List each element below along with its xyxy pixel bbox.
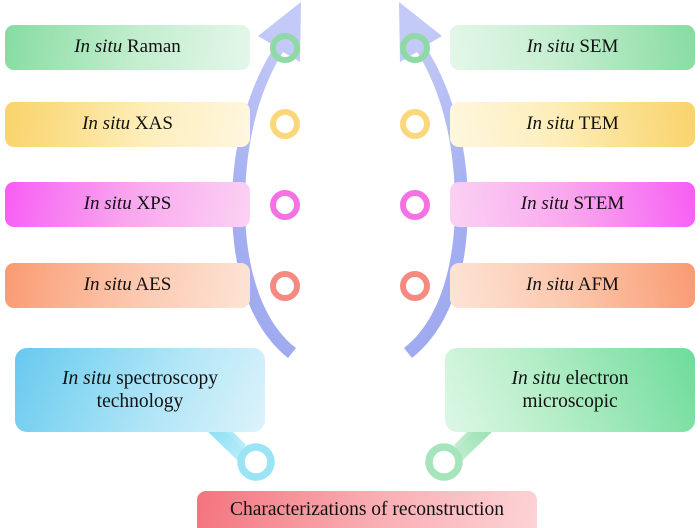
ring-sem — [400, 33, 430, 63]
ring-raman — [270, 33, 300, 63]
pill-label-sem: In situ SEM — [527, 36, 619, 58]
pill-in-situ-afm[interactable]: In situ AFM — [450, 263, 695, 308]
pill-in-situ-xps[interactable]: In situ XPS — [5, 182, 250, 227]
pill-label-tem: In situ TEM — [526, 113, 619, 135]
pill-in-situ-xas[interactable]: In situ XAS — [5, 102, 250, 147]
pill-in-situ-sem[interactable]: In situ SEM — [450, 25, 695, 70]
pill-label-xas: In situ XAS — [82, 113, 173, 135]
ring-stem — [400, 190, 430, 220]
ring-tem — [400, 109, 430, 139]
pill-label-afm: In situ AFM — [526, 274, 619, 296]
bottom-bar-characterizations[interactable]: Characterizations of reconstruction — [197, 491, 537, 528]
pill-label-stem: In situ STEM — [521, 193, 624, 215]
pill-label-raman: In situ Raman — [74, 36, 181, 58]
figure-canvas: In situ Raman In situ XAS In situ XPS In… — [0, 0, 700, 528]
pill-label-xps: In situ XPS — [84, 193, 172, 215]
pill-in-situ-electron-microscopic[interactable]: In situ electron microscopic — [445, 348, 695, 432]
pill-in-situ-raman[interactable]: In situ Raman — [5, 25, 250, 70]
bottom-bar-label: Characterizations of reconstruction — [230, 499, 504, 521]
ring-xas — [270, 109, 300, 139]
pill-label-spectroscopy: In situ spectroscopy technology — [62, 367, 218, 413]
pill-in-situ-spectroscopy-technology[interactable]: In situ spectroscopy technology — [15, 348, 265, 432]
ring-aes — [270, 271, 300, 301]
pill-in-situ-tem[interactable]: In situ TEM — [450, 102, 695, 147]
pill-label-electron-microscopic: In situ electron microscopic — [512, 367, 629, 413]
pill-in-situ-stem[interactable]: In situ STEM — [450, 182, 695, 227]
pill-label-aes: In situ AES — [84, 274, 172, 296]
ring-xps — [270, 190, 300, 220]
ring-afm — [400, 271, 430, 301]
pill-in-situ-aes[interactable]: In situ AES — [5, 263, 250, 308]
